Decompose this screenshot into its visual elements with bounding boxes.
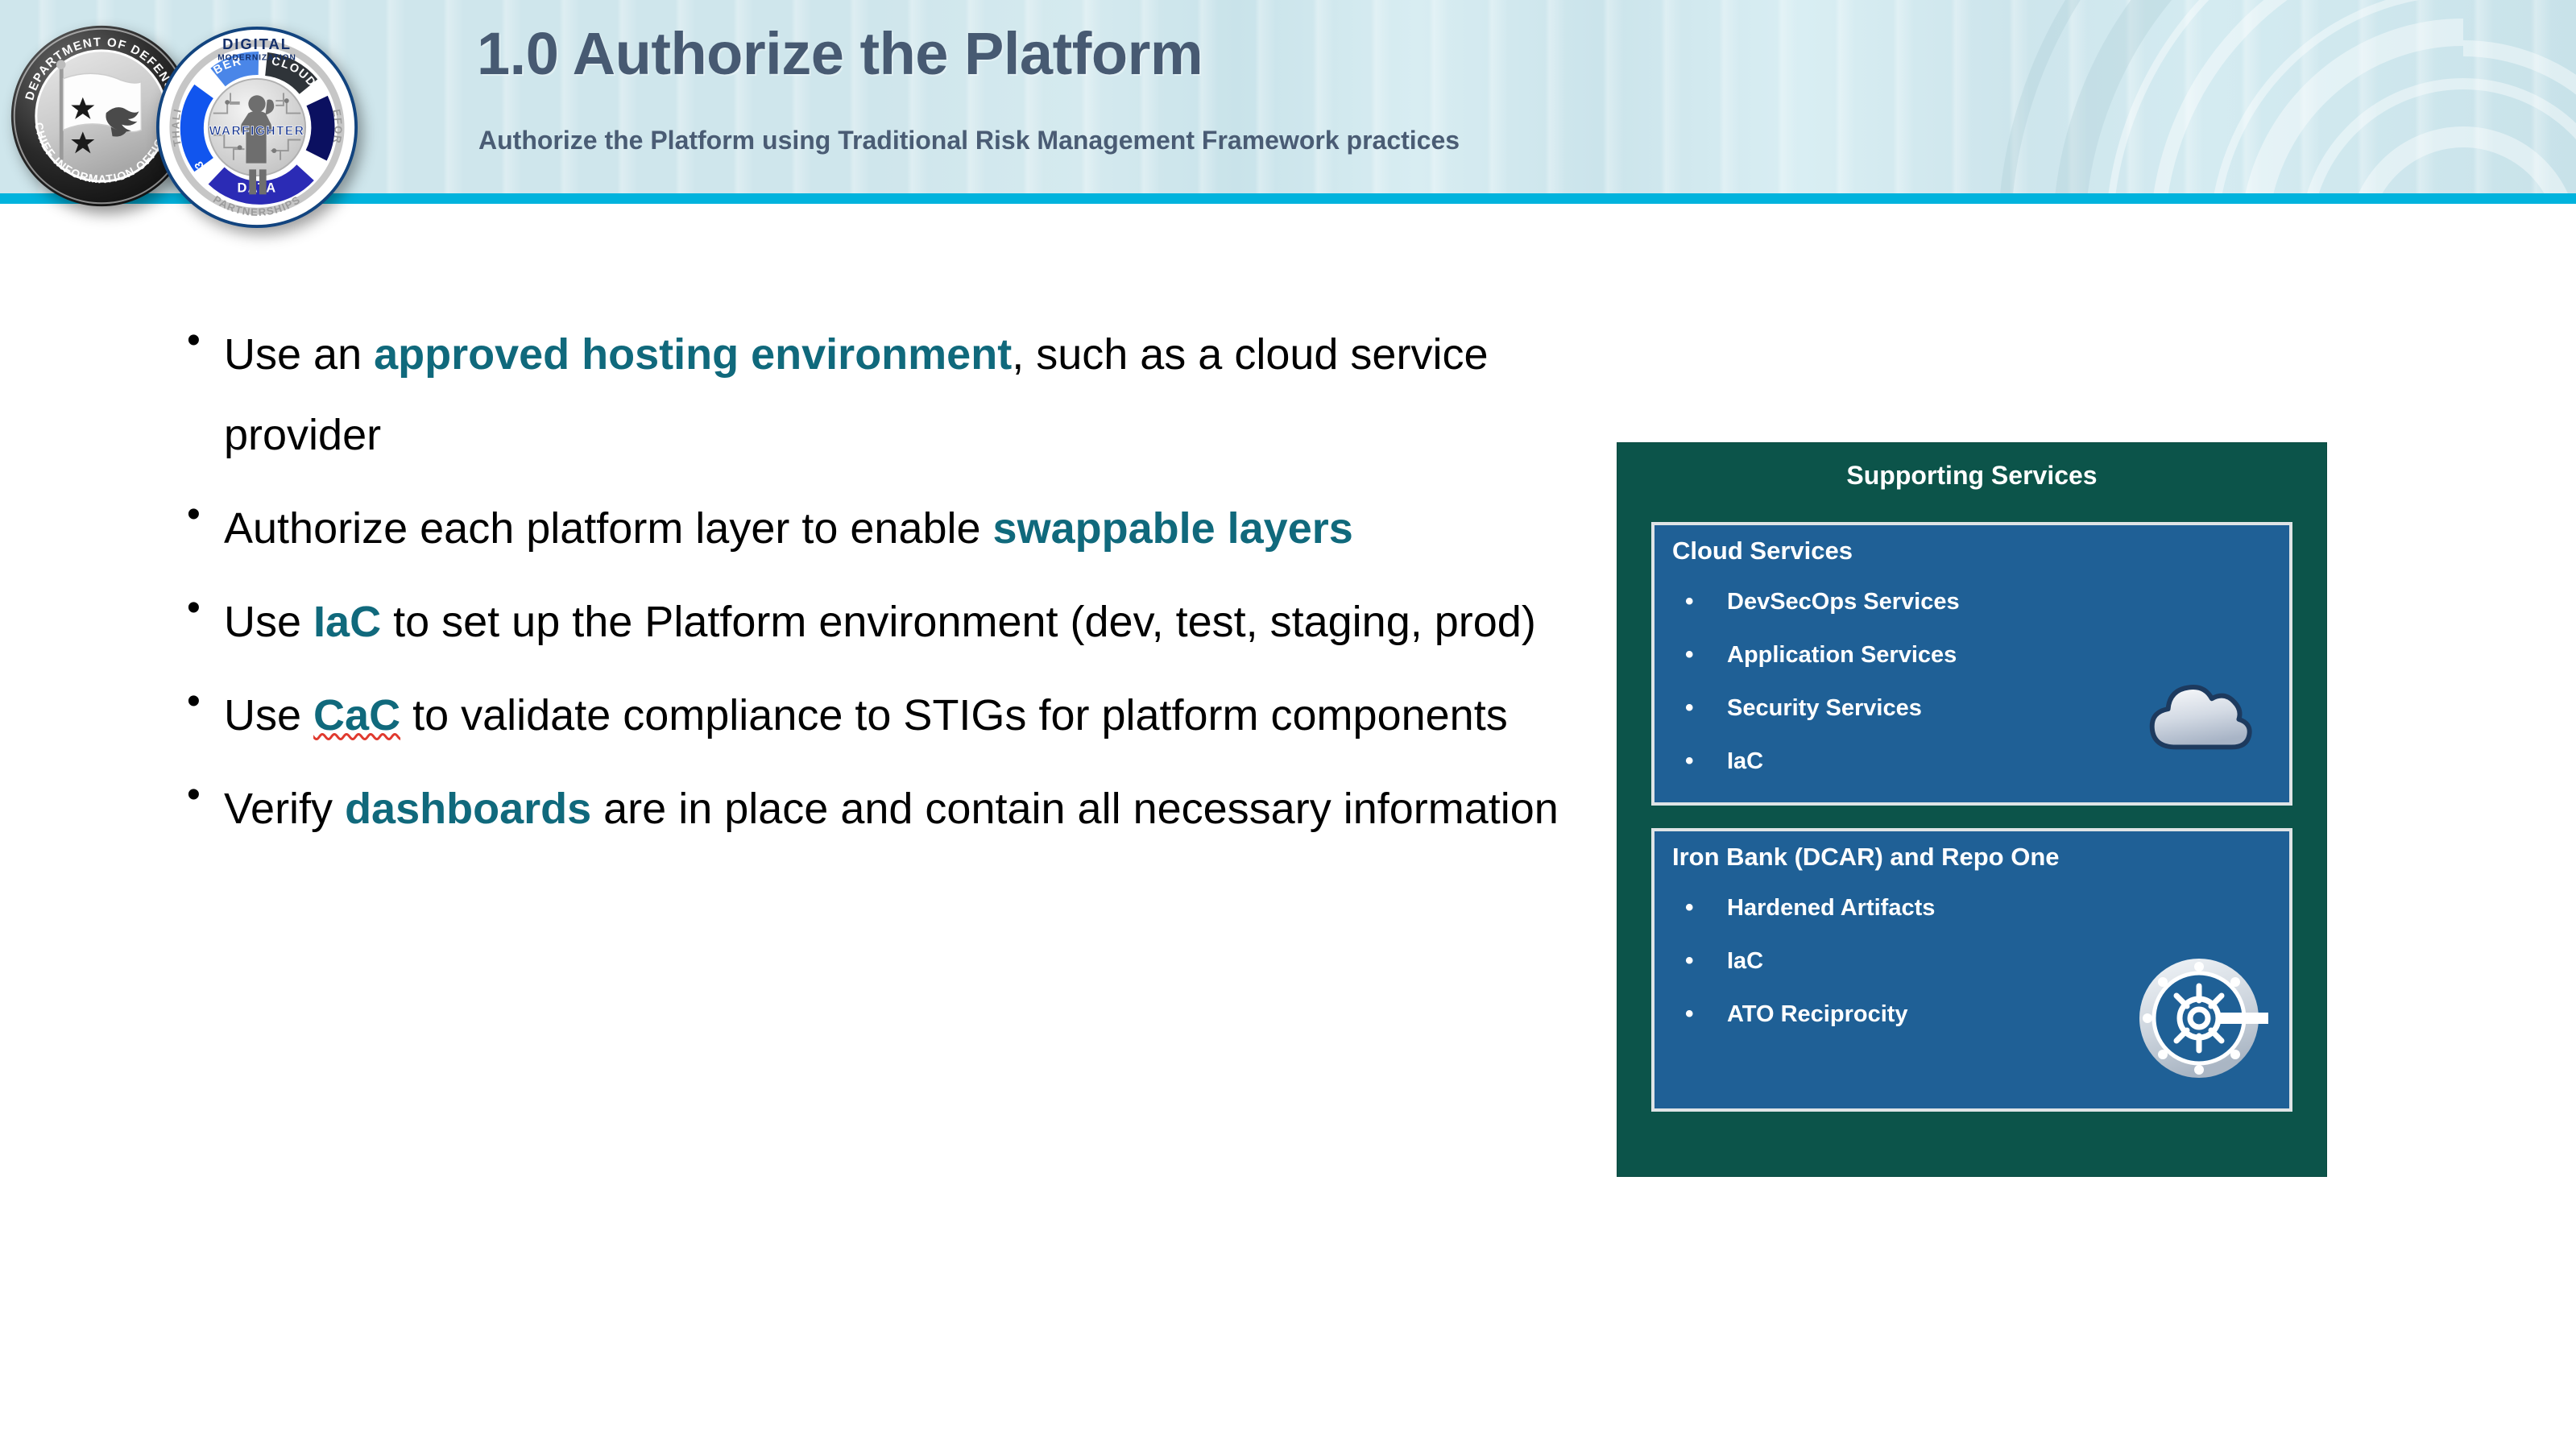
diagram-title: Supporting Services <box>1617 461 2326 491</box>
bullet-seg-accent: approved hosting environment <box>374 330 1012 379</box>
bullet-text: Authorize each platform layer to enable … <box>224 488 1572 569</box>
header-accent-rule <box>0 193 2576 204</box>
cloud-icon <box>2144 670 2263 760</box>
bullet-marker: • <box>187 768 224 822</box>
panel-item-list: •DevSecOps Services •Application Service… <box>1685 575 1960 788</box>
bullet-item-5: • Verify dashboards are in place and con… <box>187 768 1572 849</box>
bullet-marker: • <box>1685 735 1727 787</box>
bullet-marker: • <box>1685 881 1727 934</box>
list-item: •IaC <box>1685 735 1960 788</box>
bullet-item-1: • Use an approved hosting environment, s… <box>187 314 1572 475</box>
bullet-seg-plain: Use <box>224 691 313 739</box>
bullet-marker: • <box>187 582 224 635</box>
bullet-item-3: • Use IaC to set up the Platform environ… <box>187 582 1572 662</box>
slide-header-band <box>0 0 2576 193</box>
bullet-seg-plain: Use <box>224 598 313 646</box>
list-item-label: DevSecOps Services <box>1727 576 1960 628</box>
bullet-marker: • <box>1685 681 1727 734</box>
iron-bank-panel: Iron Bank (DCAR) and Repo One •Hardened … <box>1651 828 2292 1112</box>
list-item: •Hardened Artifacts <box>1685 881 1935 934</box>
list-item-label: IaC <box>1727 935 1763 988</box>
list-item: •Application Services <box>1685 628 1960 681</box>
list-item-label: ATO Reciprocity <box>1727 988 1908 1041</box>
panel-item-list: •Hardened Artifacts •IaC •ATO Reciprocit… <box>1685 881 1935 1041</box>
bullet-text: Verify dashboards are in place and conta… <box>224 768 1572 849</box>
panel-heading: Cloud Services <box>1672 536 1853 565</box>
bullet-seg-spellcheck-error: CaC <box>313 691 400 739</box>
list-item-label: Hardened Artifacts <box>1727 882 1935 934</box>
cloud-services-panel: Cloud Services •DevSecOps Services •Appl… <box>1651 522 2292 806</box>
bullet-marker: • <box>187 488 224 541</box>
bullet-seg-accent: IaC <box>313 598 381 646</box>
list-item: •ATO Reciprocity <box>1685 988 1935 1041</box>
bullet-list: • Use an approved hosting environment, s… <box>187 314 1572 862</box>
bullet-marker: • <box>1685 988 1727 1040</box>
page-title: 1.0 Authorize the Platform <box>477 19 1203 88</box>
bullet-text: Use CaC to validate compliance to STIGs … <box>224 675 1572 756</box>
list-item: •Security Services <box>1685 681 1960 735</box>
list-item: •DevSecOps Services <box>1685 575 1960 628</box>
bullet-seg-plain: to set up the Platform environment (dev,… <box>381 598 1536 646</box>
bullet-seg-accent: swappable layers <box>993 504 1353 553</box>
vault-icon <box>2133 951 2268 1086</box>
bullet-seg-plain: Use an <box>224 330 374 379</box>
header-streak-texture <box>0 0 2576 193</box>
panel-heading: Iron Bank (DCAR) and Repo One <box>1672 843 2060 872</box>
bullet-text: Use an approved hosting environment, suc… <box>224 314 1572 475</box>
bullet-marker: • <box>187 314 224 367</box>
bullet-item-2: • Authorize each platform layer to enabl… <box>187 488 1572 569</box>
bullet-seg-plain: Authorize each platform layer to enable <box>224 504 993 553</box>
list-item: •IaC <box>1685 934 1935 988</box>
bullet-marker: • <box>1685 934 1727 987</box>
bullet-seg-accent: dashboards <box>345 785 591 833</box>
bullet-seg-plain: Verify <box>224 785 345 833</box>
list-item-label: Security Services <box>1727 682 1922 735</box>
bullet-marker: • <box>1685 575 1727 628</box>
bullet-seg-plain: are in place and contain all necessary i… <box>591 785 1559 833</box>
page-subtitle: Authorize the Platform using Traditional… <box>478 126 1460 155</box>
bullet-marker: • <box>1685 628 1727 681</box>
bullet-text: Use IaC to set up the Platform environme… <box>224 582 1572 662</box>
list-item-label: Application Services <box>1727 629 1957 681</box>
supporting-services-diagram: Supporting Services Cloud Services •DevS… <box>1617 443 2326 1176</box>
bullet-item-4: • Use CaC to validate compliance to STIG… <box>187 675 1572 756</box>
list-item-label: IaC <box>1727 735 1763 788</box>
bullet-seg-plain: to validate compliance to STIGs for plat… <box>400 691 1508 739</box>
bullet-marker: • <box>187 675 224 728</box>
header-arc-decoration <box>1948 0 2576 193</box>
